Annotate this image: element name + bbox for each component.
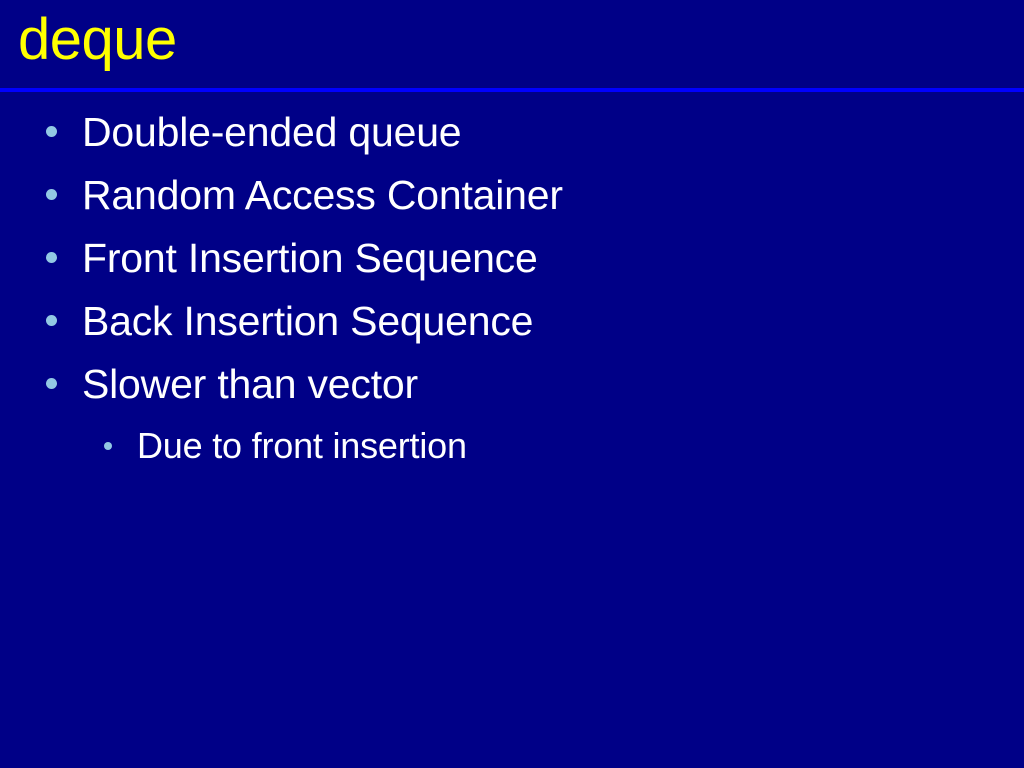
- list-item: Back Insertion Sequence: [0, 289, 1024, 352]
- slide-canvas: deque Double-ended queue Random Access C…: [0, 0, 1024, 768]
- bullet-list: Double-ended queue Random Access Contain…: [0, 100, 1024, 477]
- list-item: Front Insertion Sequence: [0, 226, 1024, 289]
- bullet-dot-icon: [46, 252, 57, 263]
- list-item-label: Back Insertion Sequence: [82, 297, 533, 345]
- slide-title-block: deque: [0, 0, 1024, 88]
- bullet-dot-icon: [46, 315, 57, 326]
- page-title: deque: [18, 2, 177, 78]
- bullet-dot-icon: [46, 378, 57, 389]
- sub-list-item-label: Due to front insertion: [137, 425, 467, 467]
- list-item: Slower than vector: [0, 352, 1024, 415]
- list-item-label: Front Insertion Sequence: [82, 234, 538, 282]
- list-item-label: Double-ended queue: [82, 108, 461, 156]
- bullet-dot-icon: [104, 442, 112, 450]
- list-item-label: Random Access Container: [82, 171, 563, 219]
- title-divider: [0, 88, 1024, 92]
- sub-list-item: Due to front insertion: [0, 415, 1024, 477]
- bullet-dot-icon: [46, 189, 57, 200]
- list-item: Double-ended queue: [0, 100, 1024, 163]
- list-item-label: Slower than vector: [82, 360, 418, 408]
- bullet-dot-icon: [46, 126, 57, 137]
- list-item: Random Access Container: [0, 163, 1024, 226]
